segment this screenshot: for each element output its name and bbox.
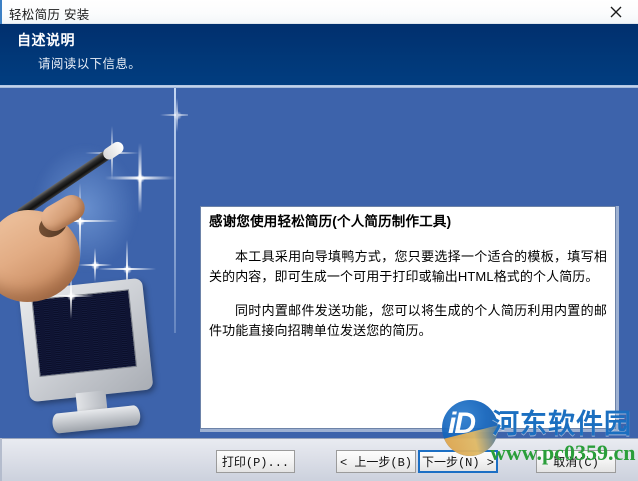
title-bar-edge	[0, 0, 2, 24]
page-subtitle: 请阅读以下信息。	[38, 53, 141, 72]
back-button[interactable]: < 上一步(B)	[336, 450, 416, 473]
wizard-header: 自述说明 请阅读以下信息。	[0, 24, 638, 85]
installer-window: 轻松简历 安装 自述说明 请阅读以下信息。	[0, 0, 638, 481]
illustration-edge-line	[174, 88, 176, 333]
button-bar: 打印(P)... < 上一步(B) 下一步(N) > 取消(C)	[0, 438, 638, 481]
wizard-illustration	[0, 88, 188, 438]
print-button[interactable]: 打印(P)...	[216, 450, 295, 473]
page-title: 自述说明	[17, 30, 75, 50]
wizard-body: 感谢您使用轻松简历(个人简历制作工具) 本工具采用向导填鸭方式，您只要选择一个适…	[0, 88, 638, 438]
close-button[interactable]	[594, 0, 638, 24]
button-bar-left-cap	[0, 438, 2, 481]
next-button[interactable]: 下一步(N) >	[418, 450, 498, 473]
close-icon	[610, 6, 622, 18]
readme-paragraph: 同时内置邮件发送功能，您可以将生成的个人简历利用内置的邮件功能直接向招聘单位发送…	[209, 301, 607, 341]
readme-paragraph: 本工具采用向导填鸭方式，您只要选择一个适合的模板，填写相关的内容，即可生成一个可…	[209, 247, 607, 287]
readme-heading: 感谢您使用轻松简历(个人简历制作工具)	[209, 212, 607, 233]
title-bar: 轻松简历 安装	[0, 0, 638, 24]
monitor-base	[52, 405, 142, 434]
monitor-screen	[31, 289, 137, 377]
readme-content: 感谢您使用轻松简历(个人简历制作工具) 本工具采用向导填鸭方式，您只要选择一个适…	[201, 207, 615, 361]
readme-panel[interactable]: 感谢您使用轻松简历(个人简历制作工具) 本工具采用向导填鸭方式，您只要选择一个适…	[200, 206, 616, 429]
cancel-button[interactable]: 取消(C)	[536, 450, 616, 473]
window-title: 轻松简历 安装	[9, 4, 90, 23]
